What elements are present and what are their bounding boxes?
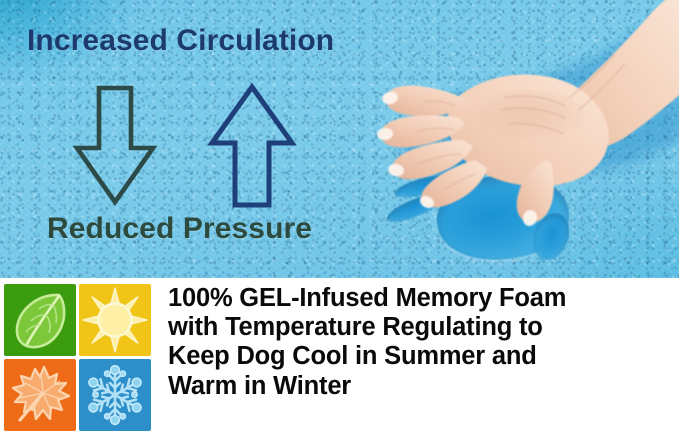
- season-tile-winter: [79, 359, 151, 431]
- feature-line: Warm in Winter: [168, 372, 675, 401]
- maple-leaf-icon: [4, 359, 76, 431]
- feature-line: 100% GEL-Infused Memory Foam: [168, 284, 675, 313]
- snowflake-icon: [79, 359, 151, 431]
- sun-icon: [79, 284, 151, 356]
- season-icon-grid: [0, 278, 156, 431]
- increased-circulation-heading: Increased Circulation: [27, 24, 334, 58]
- reduced-pressure-heading: Reduced Pressure: [47, 212, 312, 246]
- up-arrow-icon: [207, 82, 297, 210]
- feature-callout-panel: 100% GEL-Infused Memory Foam with Temper…: [0, 278, 679, 436]
- season-tile-autumn: [4, 359, 76, 431]
- leaf-icon: [4, 284, 76, 356]
- season-tile-summer: [79, 284, 151, 356]
- feature-line: with Temperature Regulating to: [168, 313, 675, 342]
- down-arrow-icon: [72, 84, 158, 208]
- hand-illustration: [355, 0, 679, 278]
- product-infographic: Increased Circulation Reduced Pressure: [0, 0, 679, 436]
- feature-line: Keep Dog Cool in Summer and: [168, 342, 675, 371]
- season-tile-spring: [4, 284, 76, 356]
- feature-description-text: 100% GEL-Infused Memory Foam with Temper…: [156, 278, 679, 401]
- hand-pressing-foam: [355, 0, 679, 278]
- memory-foam-photo-panel: Increased Circulation Reduced Pressure: [0, 0, 679, 278]
